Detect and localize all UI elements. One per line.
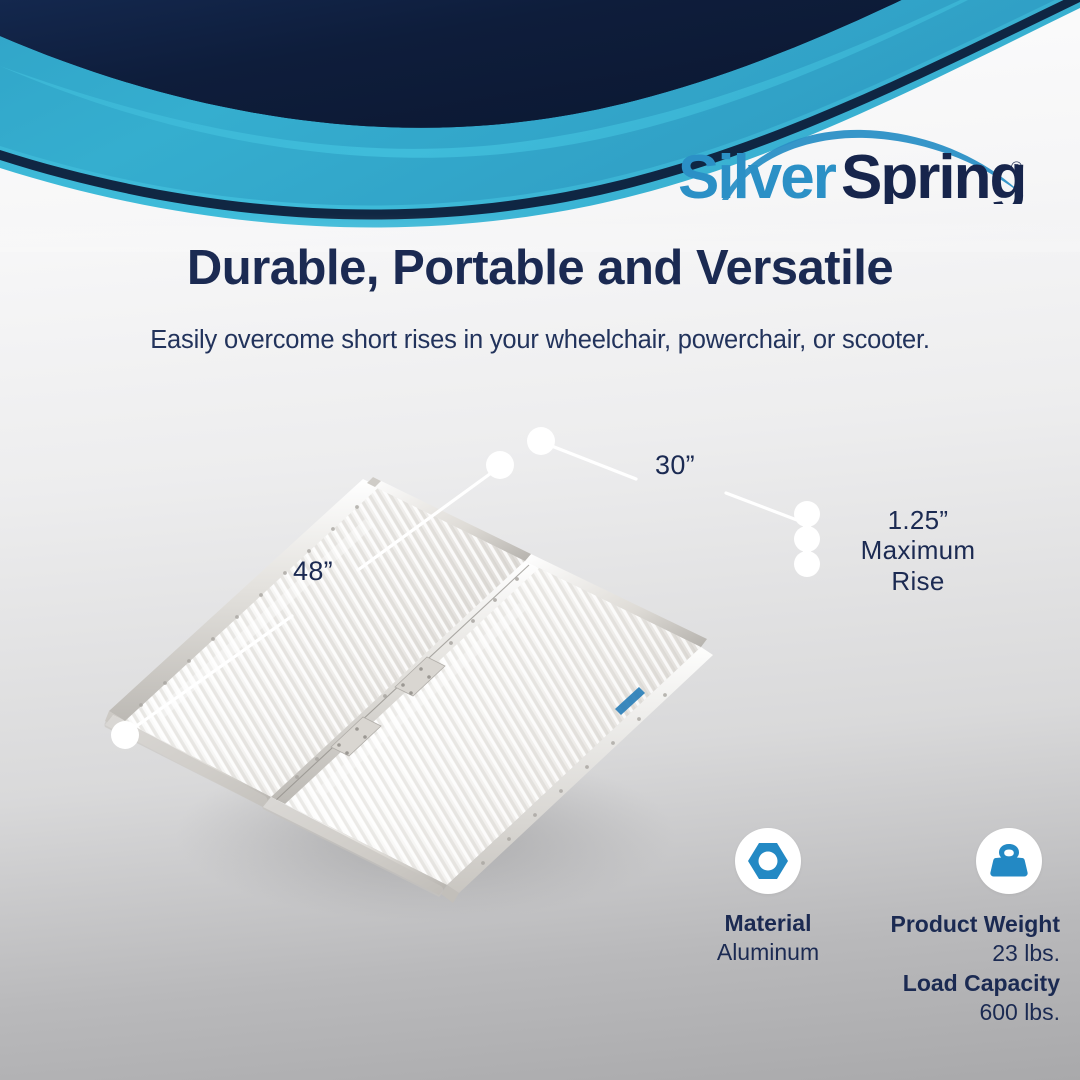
callout-label-rise: 1.25” Maximum Rise (838, 505, 998, 596)
callout-rise-line2: Maximum (838, 535, 998, 565)
callout-dot (794, 501, 820, 527)
callout-dot (111, 721, 139, 749)
callout-dot (527, 427, 555, 455)
spec-product-weight-label: Product Weight (810, 910, 1060, 939)
callout-dot (794, 526, 820, 552)
callout-dot (794, 551, 820, 577)
callout-label-width: 30” (655, 450, 695, 481)
spec-load-capacity-value: 600 lbs. (810, 998, 1060, 1027)
callout-rise-line3: Rise (838, 566, 998, 596)
callout-dot (486, 451, 514, 479)
callout-rise-line1: 1.25” (838, 505, 998, 535)
marketing-banner: Silver Spring ® Durable, Portable and Ve… (0, 0, 1080, 1080)
weight-icon-badge (976, 828, 1042, 894)
weight-icon (987, 839, 1031, 883)
page-subtitle: Easily overcome short rises in your whee… (0, 326, 1080, 355)
svg-text:®: ® (1011, 159, 1022, 176)
spec-product-weight-value: 23 lbs. (810, 939, 1060, 968)
svg-text:Spring: Spring (841, 143, 1025, 204)
callout-label-length: 48” (293, 556, 333, 587)
svg-text:Silver: Silver (678, 143, 837, 204)
hex-nut-icon-badge (735, 828, 801, 894)
spec-weight-rows: Product Weight 23 lbs. Load Capacity 600… (810, 910, 1060, 1028)
brand-logo: Silver Spring ® (678, 126, 1028, 204)
page-title: Durable, Portable and Versatile (0, 240, 1080, 296)
hex-nut-icon (746, 839, 790, 883)
spec-load-capacity-label: Load Capacity (810, 969, 1060, 998)
